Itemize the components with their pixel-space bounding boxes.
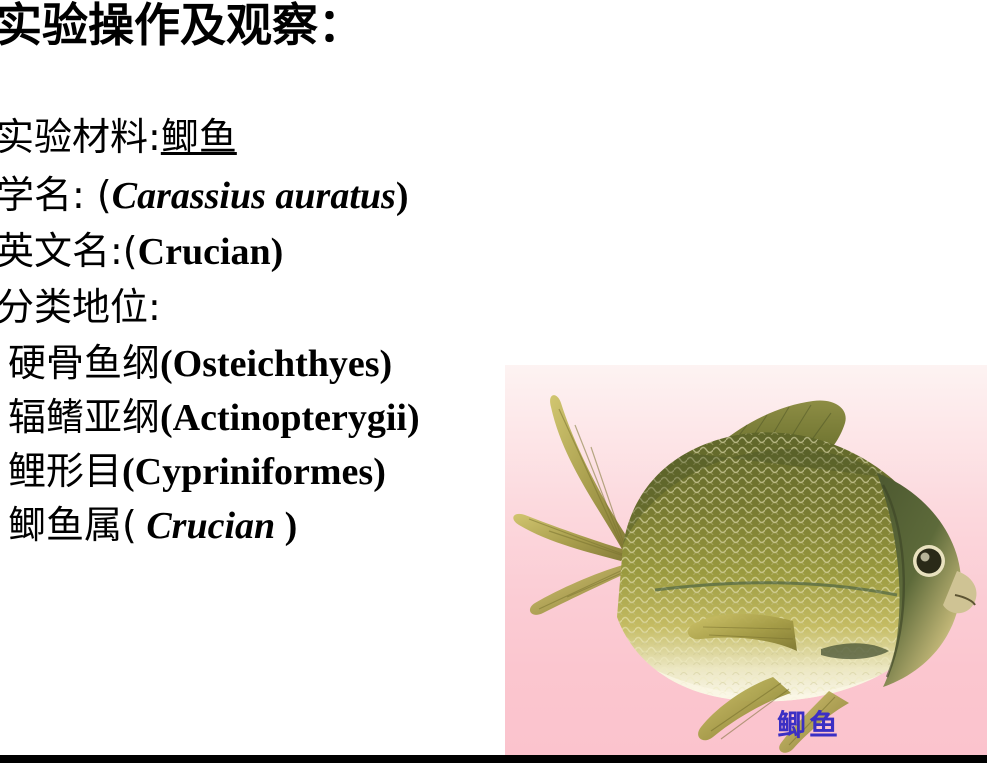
fish-illustration xyxy=(505,365,987,755)
line-scientific-name: 学名: (Carassius auratus) xyxy=(0,176,408,215)
sciname-close-paren: ) xyxy=(396,175,409,217)
subclass-latin-label: (Actinopterygii) xyxy=(160,397,420,439)
order-cn-label: 鲤形目 xyxy=(8,449,122,493)
engname-close-paren: ) xyxy=(271,231,284,273)
bottom-black-bar xyxy=(0,755,987,763)
line-english-name: 英文名:(Crucian) xyxy=(0,232,283,271)
line-taxon-genus: 鲫鱼属( Crucian ) xyxy=(8,506,297,545)
page-title: 实验操作及观察： xyxy=(0,2,364,48)
fish-body-graphic xyxy=(505,365,987,755)
sciname-label: 学名: ( xyxy=(0,173,112,217)
sciname-value: Carassius auratus xyxy=(112,175,396,217)
presentation-slide: 实验操作及观察： 实验材料:鲫鱼 学名: (Carassius auratus)… xyxy=(0,0,987,763)
genus-latin-label: Crucian xyxy=(137,505,285,547)
material-label: 实验材料: xyxy=(0,115,161,159)
line-taxon-order: 鲤形目(Cypriniformes) xyxy=(8,452,386,491)
taxonomy-label: 分类地位: xyxy=(0,285,161,329)
engname-label: 英文名:( xyxy=(0,229,138,273)
class-latin-label: (Osteichthyes) xyxy=(160,343,392,385)
crucian-carp-figure: 鲫鱼 xyxy=(505,365,987,755)
genus-close-paren: ) xyxy=(285,505,298,547)
line-taxon-subclass: 辐鳍亚纲(Actinopterygii) xyxy=(8,398,420,437)
order-latin-label: (Cypriniformes) xyxy=(122,451,386,493)
line-taxon-class: 硬骨鱼纲(Osteichthyes) xyxy=(8,344,392,383)
line-taxonomy-heading: 分类地位: xyxy=(0,288,161,327)
line-experiment-material: 实验材料:鲫鱼 xyxy=(0,118,237,157)
material-value: 鲫鱼 xyxy=(161,115,237,159)
genus-cn-label: 鲫鱼属( xyxy=(8,503,137,547)
subclass-cn-label: 辐鳍亚纲 xyxy=(8,395,160,439)
engname-value: Crucian xyxy=(138,231,271,273)
fish-caption-label: 鲫鱼 xyxy=(777,702,841,744)
class-cn-label: 硬骨鱼纲 xyxy=(8,341,160,385)
